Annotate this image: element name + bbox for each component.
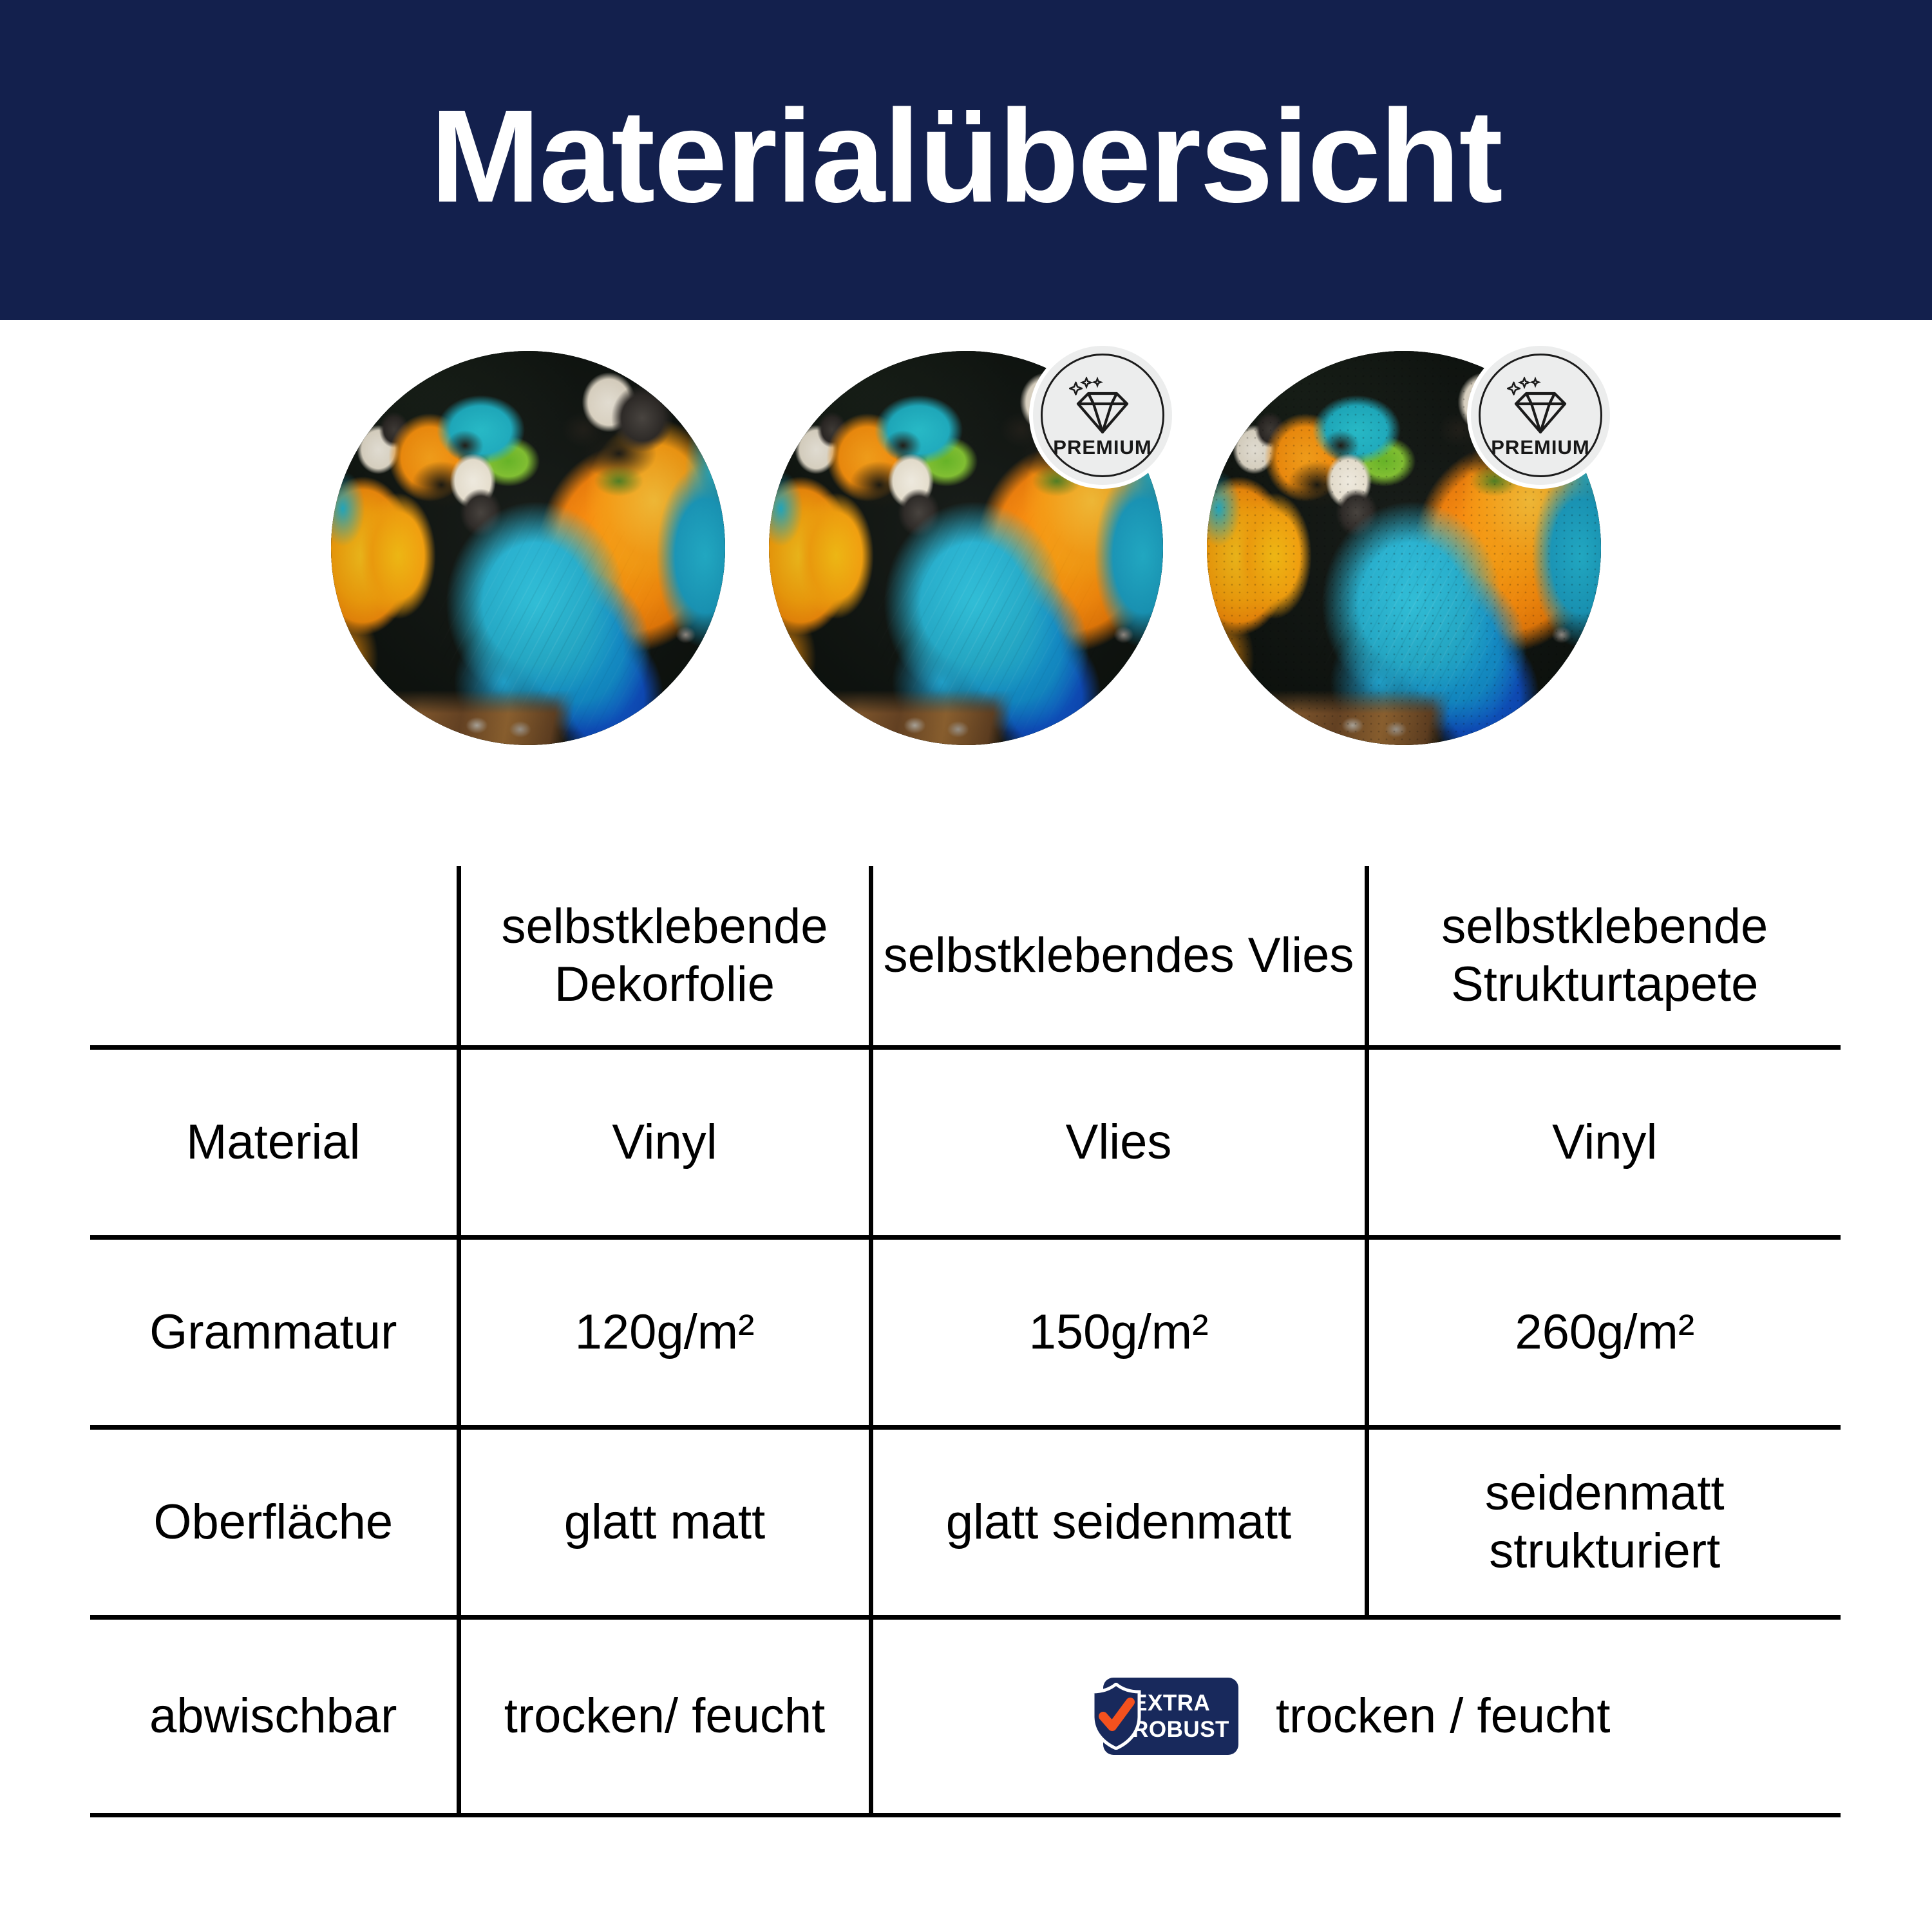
shield-check-icon bbox=[1089, 1683, 1143, 1750]
table-row-grammatur: Grammatur 120g/m² 150g/m² 260g/m² bbox=[90, 1238, 1841, 1428]
row-label-abwischbar: abwischbar bbox=[90, 1618, 459, 1815]
row-label-material: Material bbox=[90, 1048, 459, 1238]
cell-oberflaeche-dekorfolie: glatt matt bbox=[459, 1428, 871, 1618]
cell-material-dekorfolie: Vinyl bbox=[459, 1048, 871, 1238]
column-header-vlies: selbstklebendes Vlies bbox=[871, 866, 1367, 1048]
column-header-dekorfolie: selbstklebende Dekorfolie bbox=[459, 866, 871, 1048]
cell-oberflaeche-vlies: glatt seidenmatt bbox=[871, 1428, 1367, 1618]
table-header-row: selbstklebende Dekorfolie selbstklebende… bbox=[90, 866, 1841, 1048]
product-preview-dekorfolie[interactable] bbox=[331, 351, 725, 745]
cell-abwischbar-merged: EXTRA ROBUST trocken / feucht bbox=[871, 1618, 1841, 1815]
cell-material-vlies: Vlies bbox=[871, 1048, 1367, 1238]
extra-robust-badge: EXTRA ROBUST bbox=[1103, 1678, 1238, 1755]
cell-grammatur-dekorfolie: 120g/m² bbox=[459, 1238, 871, 1428]
product-preview-vlies[interactable]: PREMIUM bbox=[769, 351, 1163, 745]
cell-material-strukturtapete: Vinyl bbox=[1367, 1048, 1841, 1238]
cell-grammatur-vlies: 150g/m² bbox=[871, 1238, 1367, 1428]
cell-oberflaeche-strukturtapete: seidenmatt strukturiert bbox=[1367, 1428, 1841, 1618]
page-title: Materialübersicht bbox=[430, 90, 1501, 222]
premium-badge: PREMIUM bbox=[1033, 346, 1172, 485]
product-image-dekorfolie bbox=[331, 351, 725, 745]
product-preview-strukturtapete[interactable]: PREMIUM bbox=[1207, 351, 1601, 745]
table-row-abwischbar: abwischbar trocken/ feucht EXTRA ROBUST bbox=[90, 1618, 1841, 1815]
row-label-grammatur: Grammatur bbox=[90, 1238, 459, 1428]
table-row-oberflaeche: Oberfläche glatt matt glatt seidenmatt s… bbox=[90, 1428, 1841, 1618]
premium-label: PREMIUM bbox=[1491, 437, 1589, 457]
row-label-oberflaeche: Oberfläche bbox=[90, 1428, 459, 1618]
cell-abwischbar-dekorfolie: trocken/ feucht bbox=[459, 1618, 871, 1815]
column-header-strukturtapete: selbstklebende Strukturtapete bbox=[1367, 866, 1841, 1048]
parrot-photo bbox=[331, 351, 725, 745]
cell-grammatur-strukturtapete: 260g/m² bbox=[1367, 1238, 1841, 1428]
premium-label: PREMIUM bbox=[1053, 437, 1151, 457]
diamond-icon bbox=[1507, 377, 1574, 436]
robust-label-line1: EXTRA bbox=[1132, 1692, 1210, 1714]
table-row-material: Material Vinyl Vlies Vinyl bbox=[90, 1048, 1841, 1238]
robust-label-line2: ROBUST bbox=[1132, 1718, 1229, 1741]
table-corner-cell bbox=[90, 866, 459, 1048]
product-preview-strip: PREMIUM bbox=[0, 351, 1932, 757]
premium-badge: PREMIUM bbox=[1471, 346, 1610, 485]
material-comparison-table: selbstklebende Dekorfolie selbstklebende… bbox=[90, 866, 1841, 1817]
cell-abwischbar-merged-text: trocken / feucht bbox=[1276, 1687, 1611, 1745]
diamond-icon bbox=[1069, 377, 1136, 436]
header-banner: Materialübersicht bbox=[0, 0, 1932, 320]
